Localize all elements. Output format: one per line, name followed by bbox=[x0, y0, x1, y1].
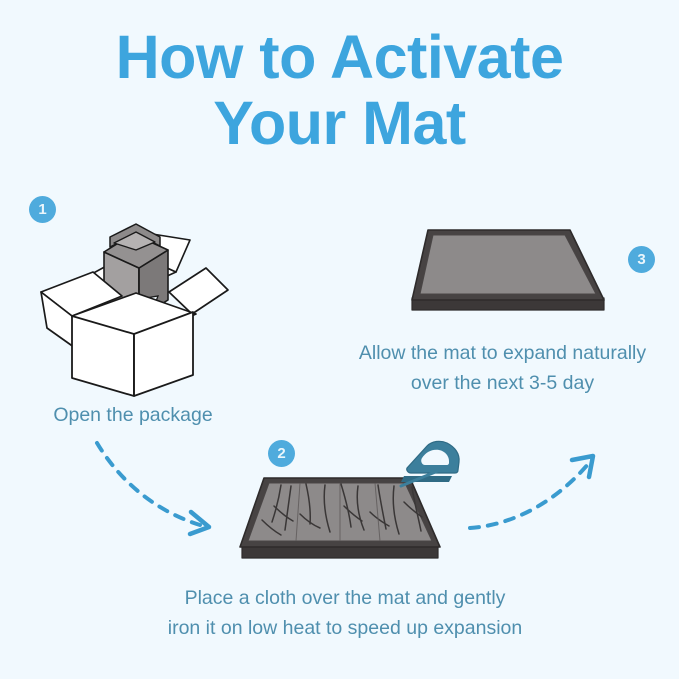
iron-icon bbox=[401, 441, 459, 486]
step-2-caption: Place a cloth over the mat and gently ir… bbox=[110, 583, 580, 643]
step-1-caption-line-1: Open the package bbox=[0, 400, 266, 430]
step-1-caption: Open the package bbox=[0, 400, 266, 430]
page-title: How to Activate Your Mat bbox=[0, 28, 679, 154]
step-3-caption: Allow the mat to expand naturally over t… bbox=[330, 338, 675, 398]
packaged-mat bbox=[104, 224, 168, 318]
cardboard-box-icon bbox=[41, 224, 228, 396]
flat-mat-icon bbox=[412, 230, 604, 310]
arrow-step2-to-step3 bbox=[470, 456, 593, 528]
step-3-caption-line-1: Allow the mat to expand naturally bbox=[330, 338, 675, 368]
infographic-canvas: How to Activate Your Mat bbox=[0, 0, 679, 679]
step-badge-3[interactable]: 3 bbox=[628, 246, 655, 273]
arrow-step1-to-step2 bbox=[97, 443, 209, 534]
step-2-caption-line-2: iron it on low heat to speed up expansio… bbox=[110, 613, 580, 643]
step-badge-1[interactable]: 1 bbox=[29, 196, 56, 223]
step-badge-2[interactable]: 2 bbox=[268, 440, 295, 467]
wrinkled-mat-icon bbox=[240, 478, 440, 558]
step-2-caption-line-1: Place a cloth over the mat and gently bbox=[110, 583, 580, 613]
title-line-2: Your Mat bbox=[0, 94, 679, 154]
title-line-1: How to Activate bbox=[0, 28, 679, 88]
step-3-caption-line-2: over the next 3-5 day bbox=[330, 368, 675, 398]
